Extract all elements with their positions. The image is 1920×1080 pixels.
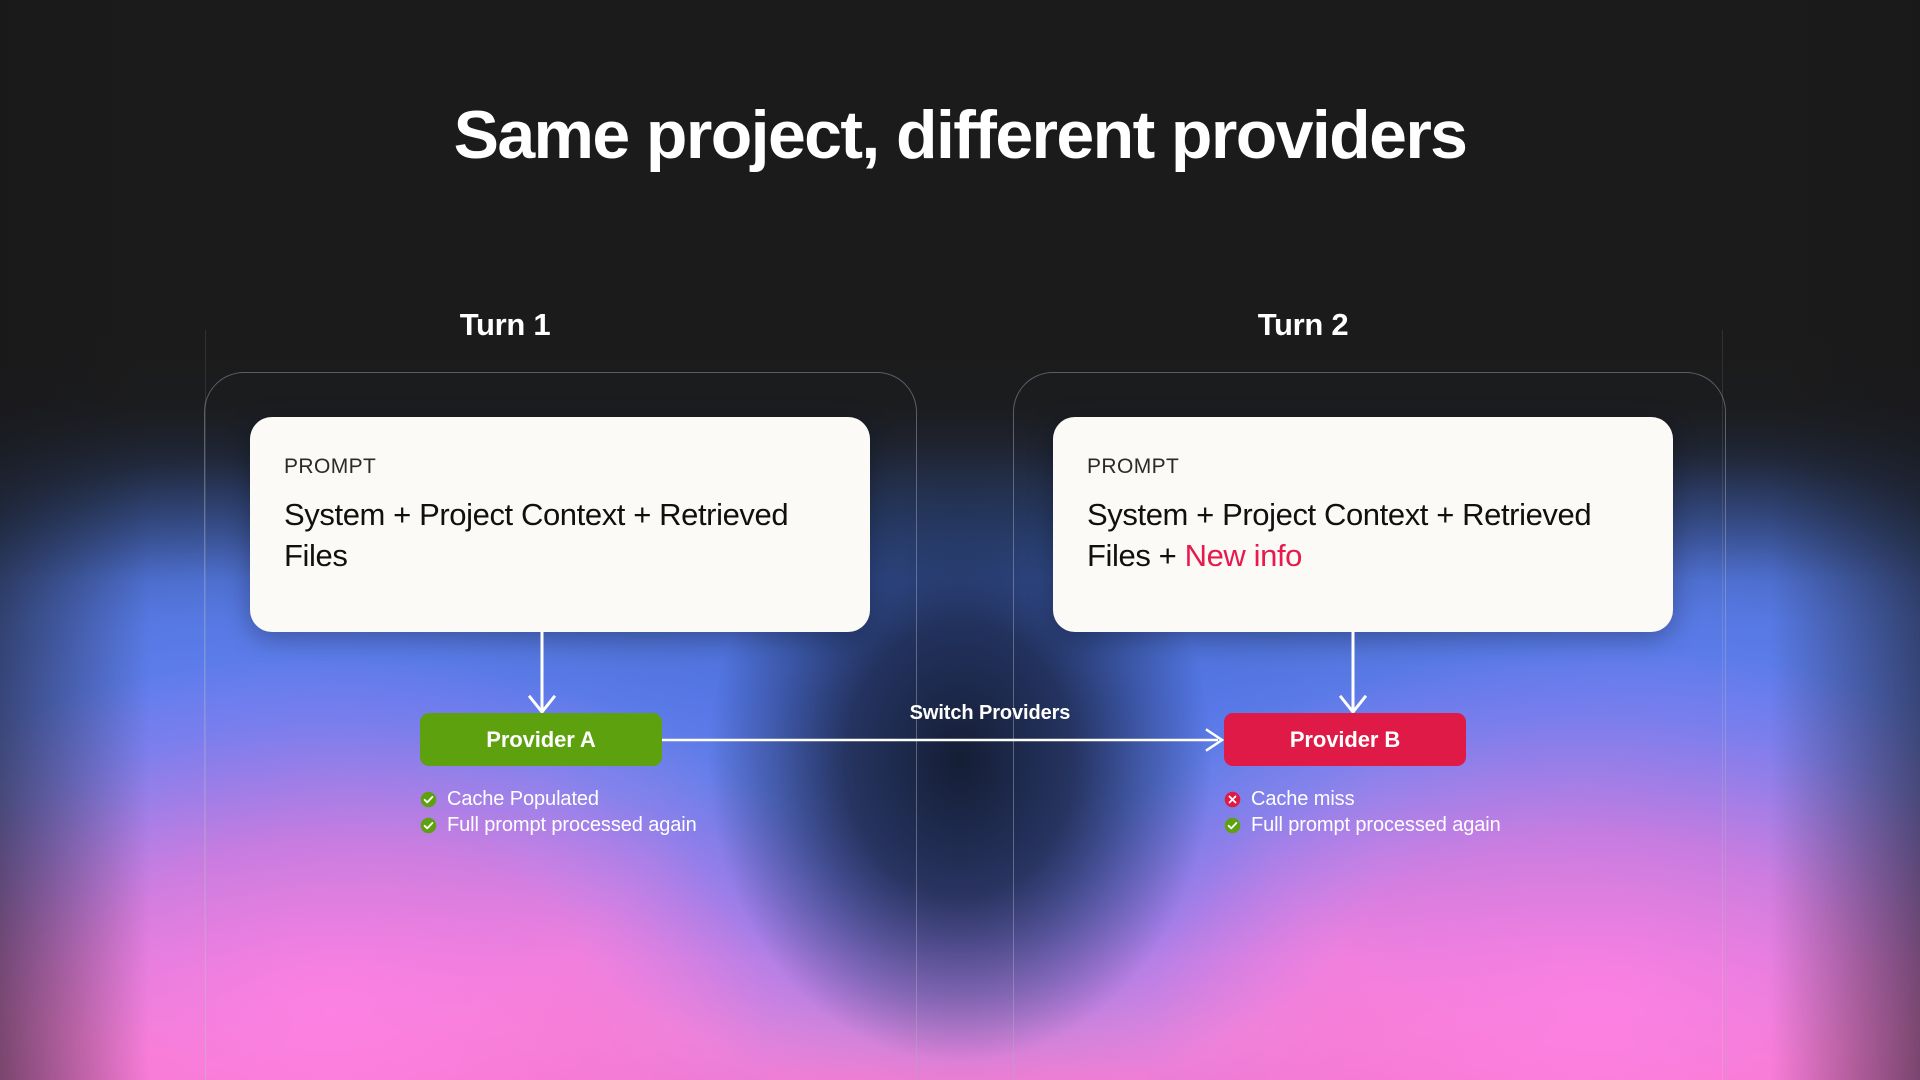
page-title: Same project, different providers	[0, 98, 1920, 173]
status-label: Cache miss	[1251, 788, 1354, 811]
turn-1-prompt-body-plain: System + Project Context + Retrieved Fil…	[284, 497, 788, 573]
check-circle-icon	[1224, 817, 1241, 834]
status-label: Full prompt processed again	[447, 814, 697, 837]
check-circle-icon	[420, 817, 437, 834]
turn-1-prompt-card: PROMPT System + Project Context + Retrie…	[250, 417, 870, 632]
x-circle-icon	[1224, 791, 1241, 808]
turn-2-prompt-eyebrow: PROMPT	[1087, 455, 1639, 479]
turn-1-prompt-eyebrow: PROMPT	[284, 455, 836, 479]
turn-2-prompt-body: System + Project Context + Retrieved Fil…	[1087, 495, 1639, 576]
status-row: Full prompt processed again	[1224, 812, 1501, 838]
turn-2-prompt-body-plain: System + Project Context + Retrieved Fil…	[1087, 497, 1591, 573]
turn-1-heading: Turn 1	[410, 307, 600, 343]
turn-2-prompt-card: PROMPT System + Project Context + Retrie…	[1053, 417, 1673, 632]
provider-a-button[interactable]: Provider A	[420, 713, 662, 766]
status-label: Full prompt processed again	[1251, 814, 1501, 837]
switch-providers-arrow	[662, 727, 1228, 758]
status-label: Cache Populated	[447, 788, 599, 811]
turn-2-down-arrow	[1338, 632, 1368, 723]
provider-b-button[interactable]: Provider B	[1224, 713, 1466, 766]
turn-2-heading: Turn 2	[1208, 307, 1398, 343]
turn-1-down-arrow	[527, 632, 557, 723]
status-row: Cache Populated	[420, 786, 697, 812]
turn-1-prompt-body: System + Project Context + Retrieved Fil…	[284, 495, 836, 576]
slide-canvas: Same project, different providers Turn 1…	[0, 0, 1920, 1080]
switch-providers-label: Switch Providers	[795, 702, 1185, 725]
turn-2-prompt-new-info: New info	[1185, 538, 1302, 573]
status-row: Full prompt processed again	[420, 812, 697, 838]
provider-a-label: Provider A	[486, 727, 595, 753]
check-circle-icon	[420, 791, 437, 808]
status-row: Cache miss	[1224, 786, 1501, 812]
provider-b-label: Provider B	[1290, 727, 1400, 753]
turn-1-status-list: Cache Populated Full prompt processed ag…	[420, 786, 697, 838]
turn-2-status-list: Cache miss Full prompt processed again	[1224, 786, 1501, 838]
